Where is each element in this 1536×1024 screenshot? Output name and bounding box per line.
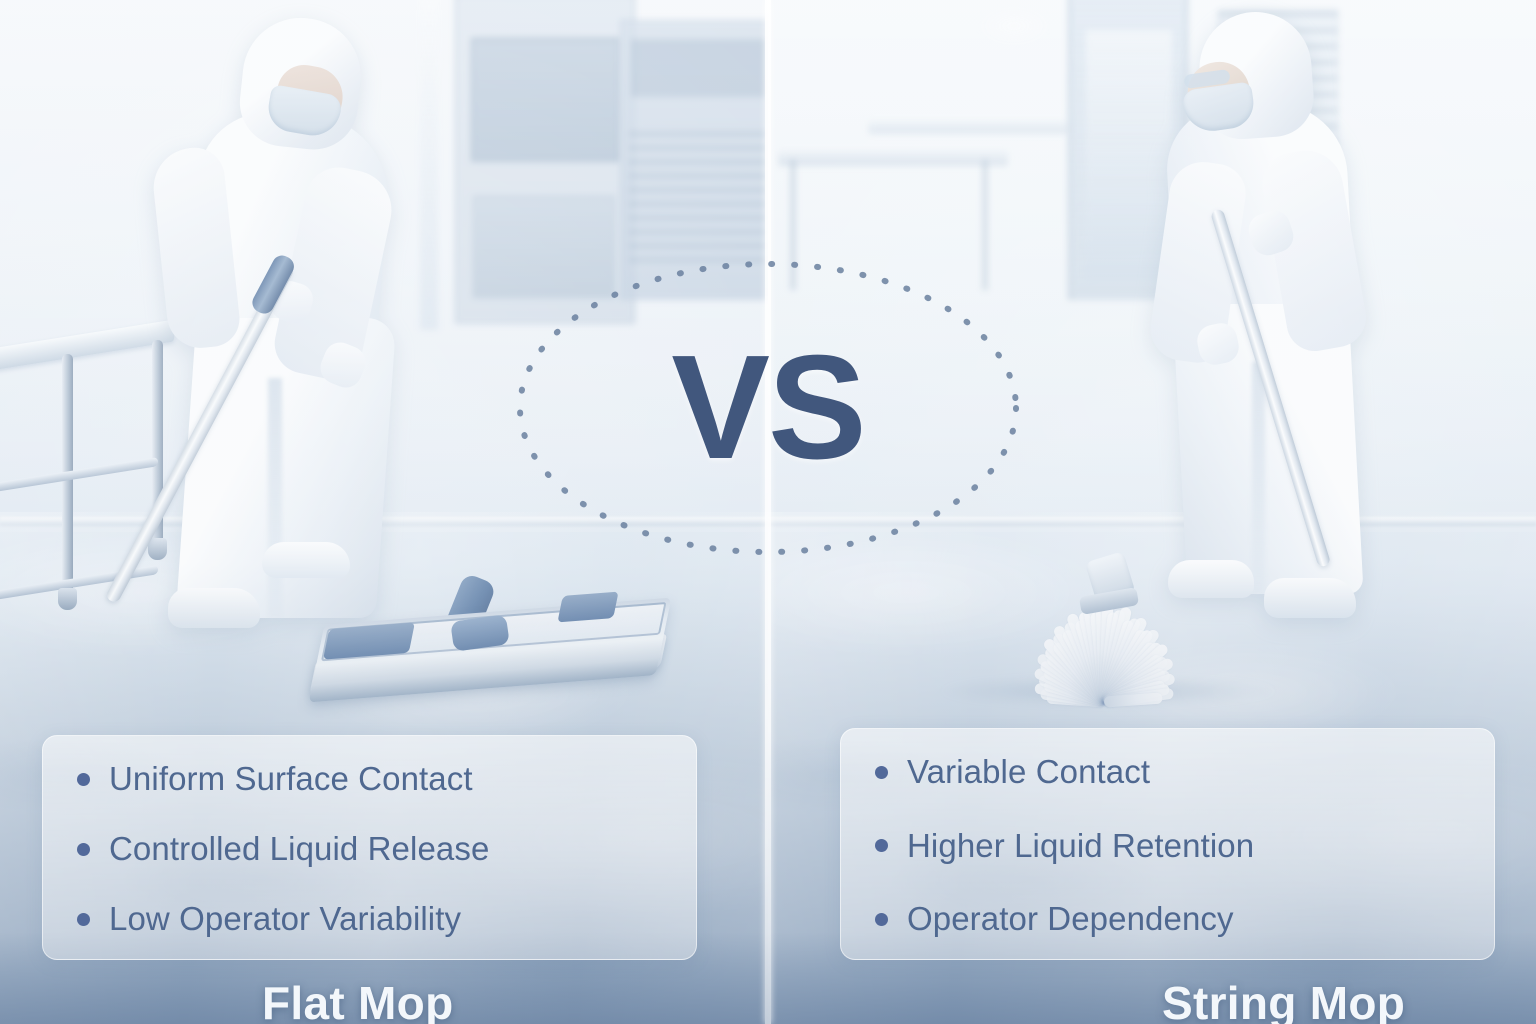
- feature-list-flat-mop: Uniform Surface Contact Controlled Liqui…: [42, 735, 697, 960]
- feature-label: Variable Contact: [907, 755, 1150, 790]
- vs-badge: VS: [508, 253, 1028, 563]
- bullet-icon: [875, 839, 888, 852]
- bullet-icon: [875, 766, 888, 779]
- list-item: Higher Liquid Retention: [875, 829, 1460, 864]
- feature-label: Controlled Liquid Release: [109, 832, 489, 867]
- operator-figure-right: [1140, 12, 1370, 612]
- bullet-icon: [875, 913, 888, 926]
- list-item: Variable Contact: [875, 755, 1460, 790]
- feature-label: Low Operator Variability: [109, 902, 461, 937]
- operator-figure-left: [150, 18, 430, 638]
- bullet-icon: [77, 843, 90, 856]
- list-item: Low Operator Variability: [77, 902, 662, 937]
- list-item: Operator Dependency: [875, 902, 1460, 937]
- bullet-icon: [77, 913, 90, 926]
- bench-back-icon: [868, 120, 1068, 134]
- vs-label: VS: [671, 334, 864, 482]
- ceiling-light-icon: [978, 8, 1050, 44]
- feature-label: Operator Dependency: [907, 902, 1234, 937]
- shoe-cover-back: [1168, 560, 1254, 598]
- shoe-cover-back: [262, 542, 350, 578]
- frame-tab-right: [557, 592, 618, 623]
- bullet-icon: [77, 773, 90, 786]
- string-mop-title: String Mop: [1162, 976, 1405, 1024]
- feature-label: Higher Liquid Retention: [907, 829, 1254, 864]
- mop-strands: [920, 596, 1288, 702]
- feature-label: Uniform Surface Contact: [109, 762, 473, 797]
- list-item: Uniform Surface Contact: [77, 762, 662, 797]
- comparison-infographic: VS Uniform Surface Contact Controlled Li…: [0, 0, 1536, 1024]
- feature-list-string-mop: Variable Contact Higher Liquid Retention…: [840, 728, 1495, 960]
- flat-mop-title: Flat Mop: [262, 976, 453, 1024]
- list-item: Controlled Liquid Release: [77, 832, 662, 867]
- shoe-cover-front: [168, 588, 260, 628]
